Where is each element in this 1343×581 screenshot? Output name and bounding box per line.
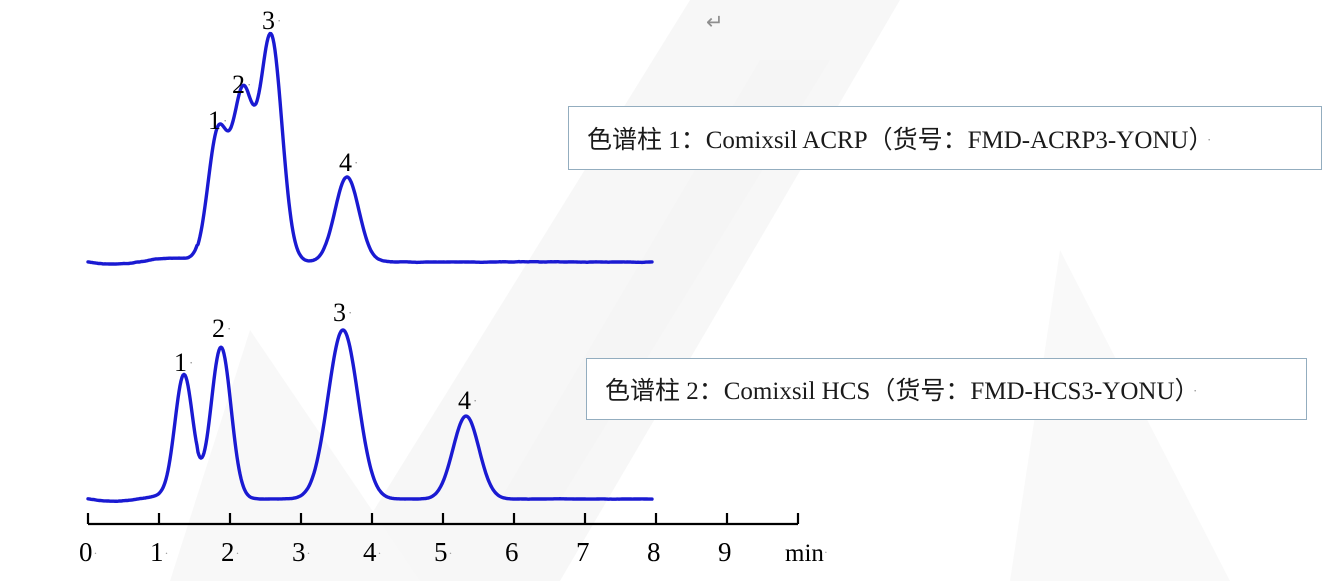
- axis-tick-label-1: 1·: [150, 539, 169, 566]
- peak-number-text: 4: [458, 386, 471, 415]
- axis-tick-formatting-mark: ·: [236, 546, 240, 560]
- axis-tick-text: 5: [434, 537, 448, 567]
- caption-formatting-mark-1: ·: [1207, 132, 1211, 147]
- axis-tick-text: 2: [221, 537, 235, 567]
- peak-number-text: 3: [333, 298, 346, 327]
- peak-number-text: 1: [208, 106, 221, 135]
- peak-label-formatting-mark: ·: [473, 393, 477, 408]
- peak-label-2-4: 4·: [458, 388, 477, 414]
- axis-tick-formatting-mark: ·: [378, 546, 382, 560]
- caption-text-column-2: 色谱柱 2：Comixsil HCS（货号：FMD-HCS3-YONU）·: [587, 371, 1197, 407]
- x-axis-line: [88, 513, 798, 524]
- axis-tick-formatting-mark: ·: [165, 546, 169, 560]
- paragraph-return-icon: ↵: [706, 12, 724, 33]
- axis-tick-text: 3: [292, 537, 306, 567]
- peak-label-1-3: 3·: [262, 8, 281, 34]
- peak-label-2-3: 3·: [333, 300, 352, 326]
- axis-tick-label-8: 8: [647, 539, 661, 566]
- peak-number-text: 1: [174, 348, 187, 377]
- axis-tick-label-3: 3·: [292, 539, 311, 566]
- x-axis: [88, 513, 798, 524]
- axis-tick-text: 4: [363, 537, 377, 567]
- peak-label-formatting-mark: ·: [277, 13, 281, 28]
- chromatogram-figure: 1·2·3·4·1·2·3·4· 0·1·2·3·4·5·6789 min· 色…: [0, 0, 1343, 581]
- axis-tick-label-9: 9: [718, 539, 732, 566]
- axis-tick-label-2: 2·: [221, 539, 240, 566]
- caption-text-column-1: 色谱柱 1：Comixsil ACRP（货号：FMD-ACRP3-YONU）·: [569, 120, 1211, 156]
- peak-number-text: 2: [212, 314, 225, 343]
- peak-label-1-4: 4·: [339, 150, 358, 176]
- axis-tick-text: 0: [79, 537, 93, 567]
- axis-tick-label-6: 6: [505, 539, 519, 566]
- peak-label-formatting-mark: ·: [247, 77, 251, 92]
- axis-unit-label: min·: [785, 540, 828, 568]
- axis-tick-formatting-mark: ·: [307, 546, 311, 560]
- axis-tick-label-7: 7: [576, 539, 590, 566]
- axis-tick-text: 6: [505, 537, 519, 567]
- peak-label-1-2: 2·: [232, 72, 251, 98]
- caption-label-column-2: 色谱柱 2：Comixsil HCS（货号：FMD-HCS3-YONU）: [605, 378, 1187, 405]
- peak-number-text: 2: [232, 70, 245, 99]
- axis-tick-label-4: 4·: [363, 539, 382, 566]
- caption-formatting-mark-2: ·: [1193, 383, 1197, 398]
- peak-label-formatting-mark: ·: [348, 305, 352, 320]
- axis-tick-text: 1: [150, 537, 164, 567]
- axis-tick-text: 8: [647, 537, 661, 567]
- axis-tick-formatting-mark: ·: [94, 546, 98, 560]
- axis-tick-text: 7: [576, 537, 590, 567]
- caption-box-column-2[interactable]: 色谱柱 2：Comixsil HCS（货号：FMD-HCS3-YONU）·: [586, 358, 1307, 420]
- axis-tick-text: 9: [718, 537, 732, 567]
- trace-column-2: [88, 330, 652, 501]
- peak-label-formatting-mark: ·: [223, 113, 227, 128]
- axis-unit-formatting-mark: ·: [824, 545, 828, 559]
- axis-tick-label-5: 5·: [434, 539, 453, 566]
- axis-tick-formatting-mark: ·: [449, 546, 453, 560]
- peak-label-2-1: 1·: [174, 350, 193, 376]
- caption-box-column-1[interactable]: 色谱柱 1：Comixsil ACRP（货号：FMD-ACRP3-YONU）·: [568, 106, 1322, 170]
- caption-label-column-1: 色谱柱 1：Comixsil ACRP（货号：FMD-ACRP3-YONU）: [587, 127, 1201, 154]
- chromatogram-canvas: [0, 0, 1343, 581]
- trace-line-column-2: [88, 330, 652, 501]
- peak-label-formatting-mark: ·: [189, 355, 193, 370]
- peak-number-text: 3: [262, 6, 275, 35]
- axis-tick-label-0: 0·: [79, 539, 98, 566]
- axis-unit-text: min: [785, 540, 824, 567]
- peak-label-1-1: 1·: [208, 108, 227, 134]
- peak-label-formatting-mark: ·: [354, 155, 358, 170]
- peak-label-2-2: 2·: [212, 316, 231, 342]
- peak-number-text: 4: [339, 148, 352, 177]
- peak-label-formatting-mark: ·: [227, 321, 231, 336]
